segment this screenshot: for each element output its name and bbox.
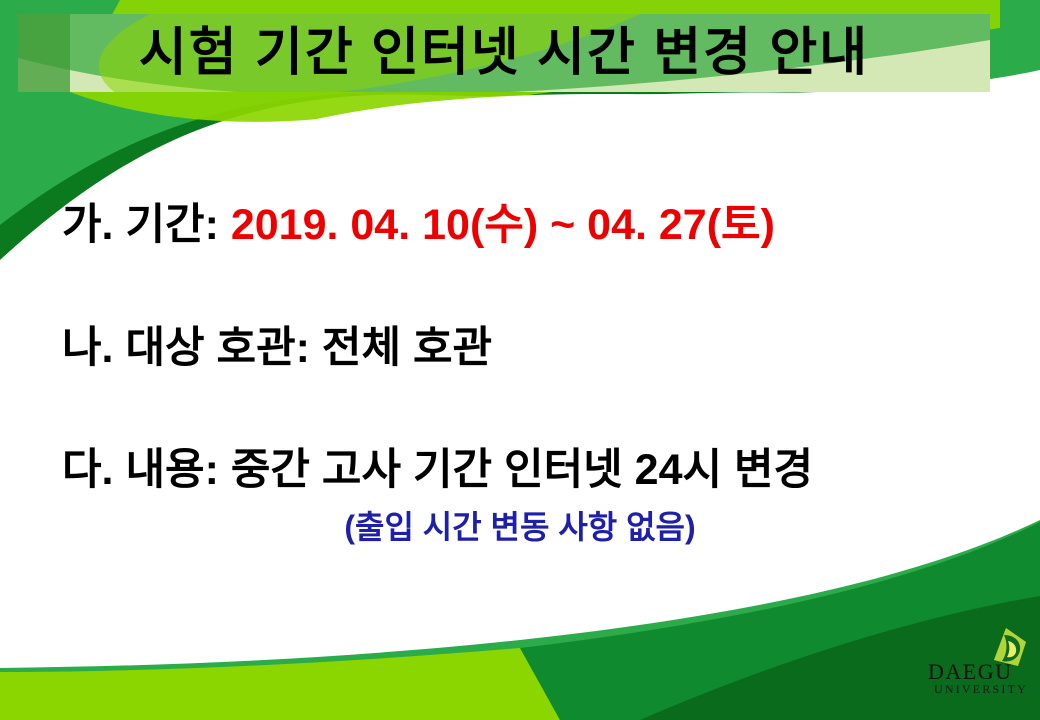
bottom-dark-green-shape: [0, 560, 1040, 720]
daegu-university-logo: DAEGU UNIVERSITY: [920, 622, 1032, 698]
slide-canvas: 시험 기간 인터넷 시간 변경 안내 가. 기간: 2019. 04. 10(수…: [0, 0, 1040, 720]
body-line-detail-note: (출입 시간 변동 사항 없음): [0, 502, 1040, 548]
body-line-period-value: 2019. 04. 10(수) ~ 04. 27(토): [231, 201, 775, 249]
body-line-detail: 다. 내용: 중간 고사 기간 인터넷 24시 변경: [0, 445, 1040, 496]
body-line-target: 나. 대상 호관: 전체 호관: [0, 323, 1040, 374]
logo-wordmark-daegu: DAEGU: [928, 659, 1013, 684]
page-title: 시험 기간 인터넷 시간 변경 안내: [139, 27, 869, 79]
body-line-period-label: 가. 기간:: [62, 201, 231, 249]
title-banner: 시험 기간 인터넷 시간 변경 안내: [18, 14, 990, 92]
bottom-green-swoosh: [0, 520, 1040, 720]
bottom-lime-wedge: [0, 648, 560, 720]
logo-wordmark-university: UNIVERSITY: [934, 682, 1028, 696]
body-line-period: 가. 기간: 2019. 04. 10(수) ~ 04. 27(토): [0, 200, 1040, 251]
slide-body: 가. 기간: 2019. 04. 10(수) ~ 04. 27(토) 나. 대상…: [0, 200, 1040, 548]
